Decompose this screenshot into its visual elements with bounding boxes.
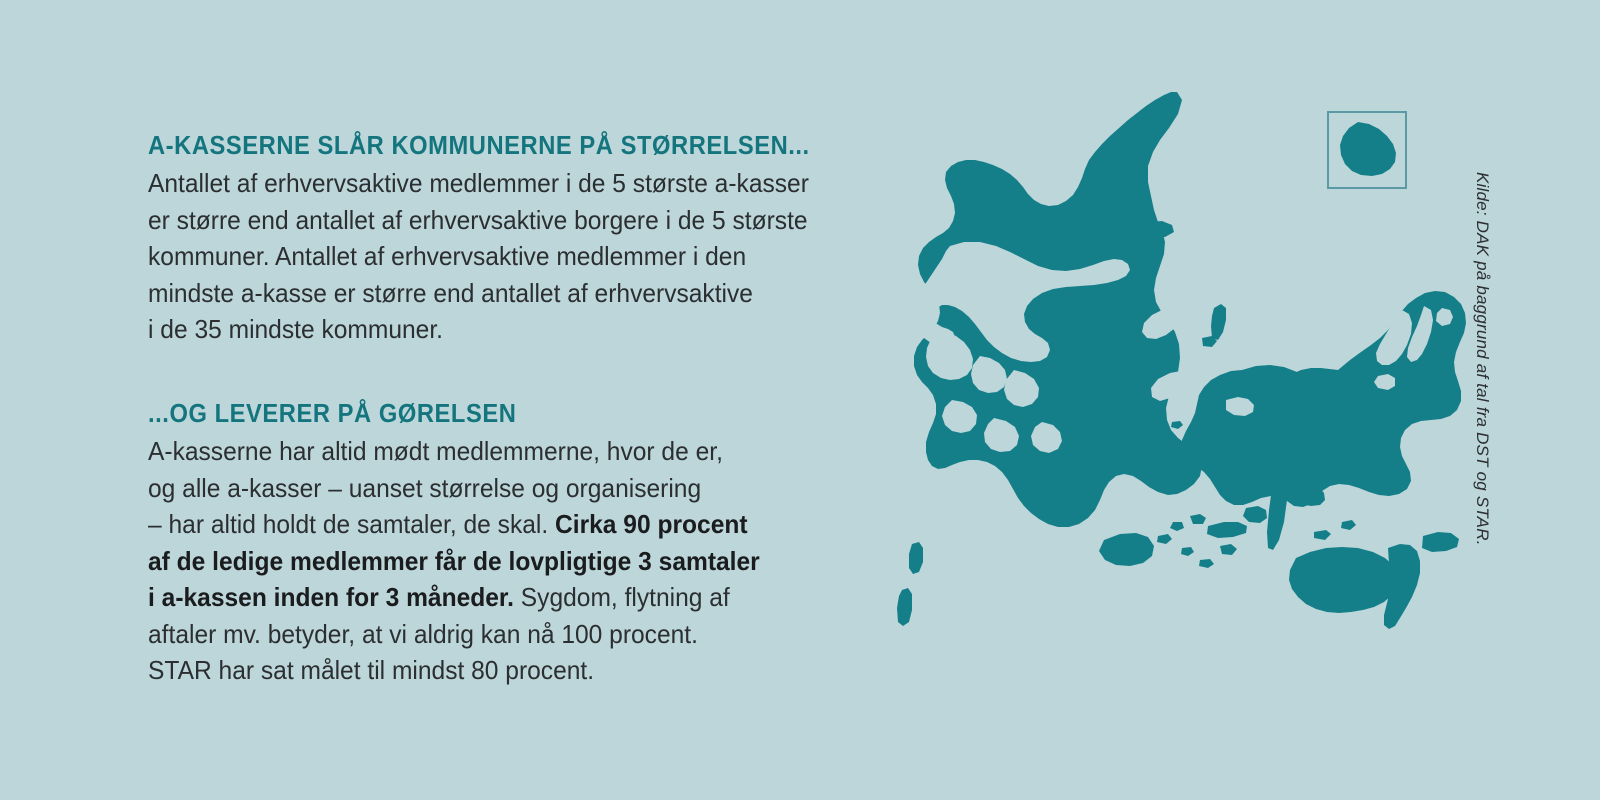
island-fano [909, 542, 923, 574]
mon-shape [1422, 532, 1459, 552]
bornholm-inset [1328, 112, 1406, 188]
heading-delivery: ...OG LEVERER PÅ GØRELSEN [148, 400, 855, 429]
islet-orho [1341, 520, 1356, 530]
infographic-poster: A-KASSERNE SLÅR KOMMUNERNE PÅ STØRRELSEN… [0, 0, 1600, 800]
heading-size: A-KASSERNE SLÅR KOMMUNERNE PÅ STØRRELSEN… [148, 132, 855, 161]
lolland-shape [1289, 547, 1398, 613]
island-aero [1207, 522, 1247, 538]
samso-shape [1211, 304, 1226, 340]
bornholm-shape [1340, 122, 1396, 176]
text-block-delivery: ...OG LEVERER PÅ GØRELSEN A-kasserne har… [148, 400, 908, 689]
islet-bago [1157, 534, 1172, 544]
denmark-map [890, 70, 1470, 710]
text-column: A-KASSERNE SLÅR KOMMUNERNE PÅ STØRRELSEN… [148, 132, 908, 689]
jutland-shape [914, 92, 1202, 527]
islet-alro [1171, 421, 1183, 429]
islet-sf-2 [1170, 522, 1184, 531]
fjord-notch-f [914, 470, 948, 501]
paragraph-size: Antallet af erhvervsaktive medlemmer i d… [148, 165, 866, 348]
als-shape [1099, 533, 1154, 566]
zealand-shape [1280, 291, 1466, 507]
islet-strait-2 [1199, 559, 1214, 568]
text-block-size: A-KASSERNE SLÅR KOMMUNERNE PÅ STØRRELSEN… [148, 132, 908, 348]
islet-fejo [1314, 530, 1331, 540]
island-tasinge [1243, 506, 1267, 523]
island-romo [897, 588, 912, 626]
source-credit-text: Kilde: DAK på baggrund af tal fra DST og… [1472, 172, 1492, 546]
islet-sf-3 [1220, 544, 1237, 555]
paragraph-delivery: A-kasserne har altid mødt medlemmerne, h… [148, 433, 866, 689]
islet-strait-1 [1181, 547, 1194, 556]
islet-sf-1 [1190, 514, 1206, 524]
